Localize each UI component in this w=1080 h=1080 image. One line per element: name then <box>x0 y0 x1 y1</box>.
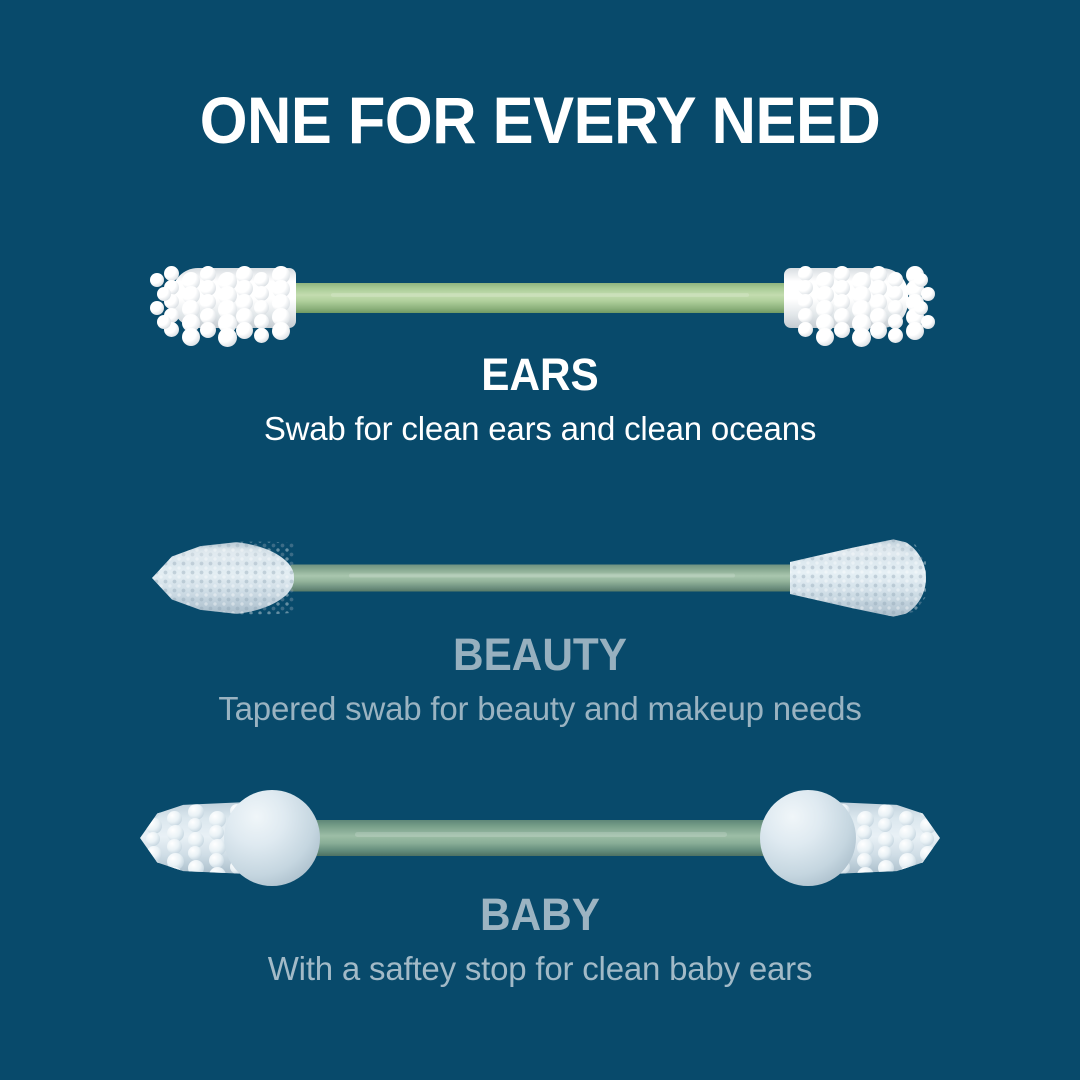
swab-tip-baby-right <box>760 788 950 888</box>
product-block-baby: BABY With a saftey stop for clean baby e… <box>0 788 1080 987</box>
safety-stop-ball-icon <box>224 790 320 886</box>
product-label-beauty: BEAUTY <box>32 632 1047 677</box>
tip-nub <box>888 314 903 329</box>
tip-nub <box>914 301 928 315</box>
tip-spike <box>857 867 874 884</box>
tip-nub <box>888 300 903 315</box>
tip-spike <box>920 804 934 818</box>
tip-nub <box>150 301 164 315</box>
tip-spike <box>899 839 914 854</box>
tip-nub <box>888 272 903 287</box>
tip-spike <box>878 818 892 832</box>
tip-spike <box>899 811 914 826</box>
tip-nub <box>870 322 887 339</box>
tip-spike <box>920 860 934 874</box>
tip-spike <box>146 832 160 846</box>
tip-nub <box>272 322 290 340</box>
tip-spike <box>188 860 204 876</box>
tip-nub <box>157 287 171 301</box>
tip-nub <box>200 322 216 338</box>
product-block-ears: EARS Swab for clean ears and clean ocean… <box>0 248 1080 447</box>
product-description-ears: Swab for clean ears and clean oceans <box>0 411 1080 447</box>
tip-spike <box>167 811 182 826</box>
tip-nub <box>254 300 269 315</box>
tip-nub <box>816 328 834 346</box>
tip-nub <box>254 314 269 329</box>
tip-spike <box>209 853 224 868</box>
tip-nub <box>798 308 813 323</box>
tip-nub <box>914 273 928 287</box>
swab-stem-ears <box>265 283 815 313</box>
safety-stop-ball-icon <box>760 790 856 886</box>
tip-nub <box>888 328 903 343</box>
tip-spike <box>878 860 894 876</box>
swab-tip-ears-left <box>148 260 296 336</box>
swab-stem-beauty <box>288 565 796 592</box>
tip-spike <box>146 846 162 862</box>
tip-nub <box>852 328 871 347</box>
tip-highlight <box>809 544 907 562</box>
tip-nub <box>254 328 269 343</box>
tip-spike <box>899 867 914 882</box>
swab-tip-beauty-left-tapered <box>152 541 294 615</box>
tip-nub <box>150 273 164 287</box>
tip-nub <box>798 266 813 281</box>
swab-stem-baby <box>296 820 786 856</box>
tip-spike <box>878 846 892 860</box>
tip-nub <box>921 315 935 329</box>
tip-nub <box>888 286 903 301</box>
infographic-canvas: ONE FOR EVERY NEED EARS Swab for clean e… <box>0 0 1080 1080</box>
tip-nub <box>834 322 850 338</box>
product-label-baby: BABY <box>32 892 1047 937</box>
page-title: ONE FOR EVERY NEED <box>38 82 1042 158</box>
swab-illustration-baby <box>0 788 1080 888</box>
tip-spike <box>188 818 202 832</box>
tip-spike <box>188 846 202 860</box>
product-label-ears: EARS <box>32 352 1047 397</box>
tip-nub <box>254 272 269 287</box>
swab-tip-baby-left <box>130 788 320 888</box>
tip-nub <box>218 328 237 347</box>
tip-spike <box>209 825 224 840</box>
swab-illustration-ears <box>0 248 1080 348</box>
tip-nub <box>798 322 813 337</box>
tip-spike <box>167 839 182 854</box>
tip-spike <box>146 860 160 874</box>
tip-nub <box>798 280 813 295</box>
product-block-beauty: BEAUTY Tapered swab for beauty and makeu… <box>0 528 1080 727</box>
tip-spike <box>146 804 160 818</box>
swab-tip-ears-right <box>784 260 932 336</box>
product-description-baby: With a saftey stop for clean baby ears <box>0 951 1080 987</box>
tip-nub <box>164 266 179 281</box>
product-description-beauty: Tapered swab for beauty and makeup needs <box>0 691 1080 727</box>
tip-spike <box>920 832 934 846</box>
tip-spike <box>857 825 872 840</box>
tip-spike <box>920 846 936 862</box>
tip-nub <box>182 328 200 346</box>
tip-nub <box>236 322 253 339</box>
tip-nub <box>254 286 269 301</box>
tip-highlight <box>172 548 274 564</box>
swab-illustration-beauty <box>0 528 1080 628</box>
tip-nub <box>157 315 171 329</box>
tip-nub <box>798 294 813 309</box>
tip-spike <box>209 867 226 884</box>
tip-spike <box>857 853 872 868</box>
tip-nub <box>921 287 935 301</box>
swab-tip-beauty-right-paddle <box>790 536 926 620</box>
tip-spike <box>167 867 182 882</box>
